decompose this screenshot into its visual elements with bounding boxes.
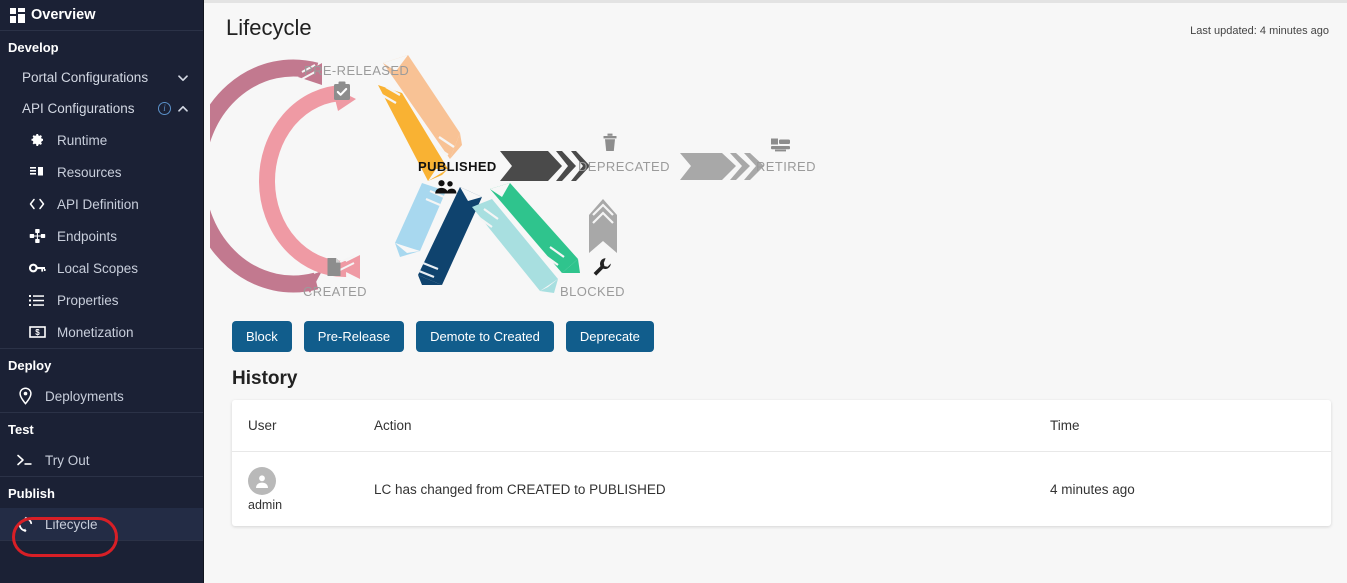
column-header-time: Time xyxy=(1050,418,1315,433)
sidebar: Overview Develop Portal Configurations A… xyxy=(0,0,204,583)
page-title: Lifecycle xyxy=(226,15,312,41)
deprecate-button[interactable]: Deprecate xyxy=(566,321,654,352)
sidebar-item-resources[interactable]: Resources xyxy=(0,156,203,188)
sidebar-item-label: Resources xyxy=(57,165,122,180)
sidebar-group-portal-configurations[interactable]: Portal Configurations xyxy=(0,62,203,93)
sidebar-item-label: Local Scopes xyxy=(57,261,138,276)
main-content: Lifecycle Last updated: 4 minutes ago xyxy=(204,0,1347,583)
sidebar-item-deployments[interactable]: Deployments xyxy=(0,380,203,412)
transition-deprecated-to-retired xyxy=(680,153,764,180)
divider xyxy=(0,540,203,541)
grid-icon xyxy=(10,8,25,23)
wrench-icon xyxy=(592,257,612,282)
lifecycle-diagram: PRE-RELEASED PUBLISHED DEPRECATED xyxy=(210,41,1347,319)
table-header-row: User Action Time xyxy=(232,400,1331,452)
sidebar-item-label: API Definition xyxy=(57,197,139,212)
sidebar-item-label: Runtime xyxy=(57,133,107,148)
demote-to-created-button[interactable]: Demote to Created xyxy=(416,321,554,352)
sidebar-section-publish: Publish xyxy=(0,477,203,508)
sidebar-item-api-definition[interactable]: API Definition xyxy=(0,188,203,220)
sidebar-item-label: Properties xyxy=(57,293,119,308)
block-button[interactable]: Block xyxy=(232,321,292,352)
state-label-published: PUBLISHED xyxy=(418,159,497,174)
list-icon xyxy=(28,291,46,309)
page-header: Lifecycle Last updated: 4 minutes ago xyxy=(204,3,1347,41)
user-name: admin xyxy=(248,498,282,512)
lifecycle-refresh-icon xyxy=(16,515,34,533)
sidebar-item-label: Try Out xyxy=(45,453,90,468)
last-updated-label: Last updated: 4 minutes ago xyxy=(1190,15,1329,37)
sidebar-item-local-scopes[interactable]: Local Scopes xyxy=(0,252,203,284)
chevron-up-icon[interactable] xyxy=(177,103,189,115)
sidebar-item-runtime[interactable]: Runtime xyxy=(0,124,203,156)
sidebar-item-overview[interactable]: Overview xyxy=(0,0,203,30)
transition-blocked-to-deprecated xyxy=(589,199,617,253)
gear-icon xyxy=(28,131,46,149)
sidebar-group-api-configurations[interactable]: API Configurations i xyxy=(0,93,203,124)
terminal-icon xyxy=(16,451,34,469)
sidebar-group-label: API Configurations xyxy=(22,101,153,116)
code-brackets-icon xyxy=(28,195,46,213)
key-icon xyxy=(28,259,46,277)
sidebar-item-try-out[interactable]: Try Out xyxy=(0,444,203,476)
sidebar-item-endpoints[interactable]: Endpoints xyxy=(0,220,203,252)
sidebar-group-label: Portal Configurations xyxy=(22,70,171,85)
cell-action: LC has changed from CREATED to PUBLISHED xyxy=(374,482,1050,497)
history-table: User Action Time admin LC has changed fr… xyxy=(232,400,1331,526)
app-root: Overview Develop Portal Configurations A… xyxy=(0,0,1347,583)
users-icon xyxy=(434,179,458,200)
column-header-user: User xyxy=(248,418,374,433)
document-icon xyxy=(326,257,342,282)
sidebar-item-lifecycle[interactable]: Lifecycle xyxy=(0,508,203,540)
location-pin-icon xyxy=(16,387,34,405)
avatar xyxy=(248,467,276,495)
state-label-blocked: BLOCKED xyxy=(560,284,625,299)
sidebar-section-develop: Develop xyxy=(0,31,203,62)
lifecycle-action-buttons: Block Pre-Release Demote to Created Depr… xyxy=(204,319,1347,352)
history-title: History xyxy=(204,352,1347,400)
state-label-retired: RETIRED xyxy=(756,159,816,174)
chevron-down-icon[interactable] xyxy=(177,72,189,84)
sidebar-item-label: Endpoints xyxy=(57,229,117,244)
svg-text:$: $ xyxy=(35,328,40,337)
lifecycle-diagram-svg xyxy=(210,41,910,319)
sidebar-item-properties[interactable]: Properties xyxy=(0,284,203,316)
table-row[interactable]: admin LC has changed from CREATED to PUB… xyxy=(232,452,1331,526)
cell-user: admin xyxy=(248,467,374,512)
state-label-created: CREATED xyxy=(303,284,367,299)
pre-release-button[interactable]: Pre-Release xyxy=(304,321,404,352)
endpoints-icon xyxy=(28,227,46,245)
resources-icon xyxy=(28,163,46,181)
sidebar-section-test: Test xyxy=(0,413,203,444)
column-header-action: Action xyxy=(374,418,1050,433)
sidebar-section-deploy: Deploy xyxy=(0,349,203,380)
transition-published-to-deprecated xyxy=(500,151,590,181)
sidebar-item-label: Monetization xyxy=(57,325,134,340)
sidebar-item-label: Deployments xyxy=(45,389,124,404)
transition-prereleased-to-created xyxy=(267,87,360,279)
state-label-pre-released: PRE-RELEASED xyxy=(304,63,409,78)
sidebar-overview-label: Overview xyxy=(31,7,96,23)
server-icon xyxy=(770,137,792,158)
cell-time: 4 minutes ago xyxy=(1050,482,1315,497)
state-label-deprecated: DEPRECATED xyxy=(578,159,670,174)
sidebar-item-monetization[interactable]: $ Monetization xyxy=(0,316,203,348)
money-icon: $ xyxy=(28,323,46,341)
sidebar-item-label: Lifecycle xyxy=(45,517,98,532)
clipboard-check-icon xyxy=(333,81,351,106)
info-icon[interactable]: i xyxy=(158,102,171,115)
trash-icon xyxy=(602,133,618,158)
